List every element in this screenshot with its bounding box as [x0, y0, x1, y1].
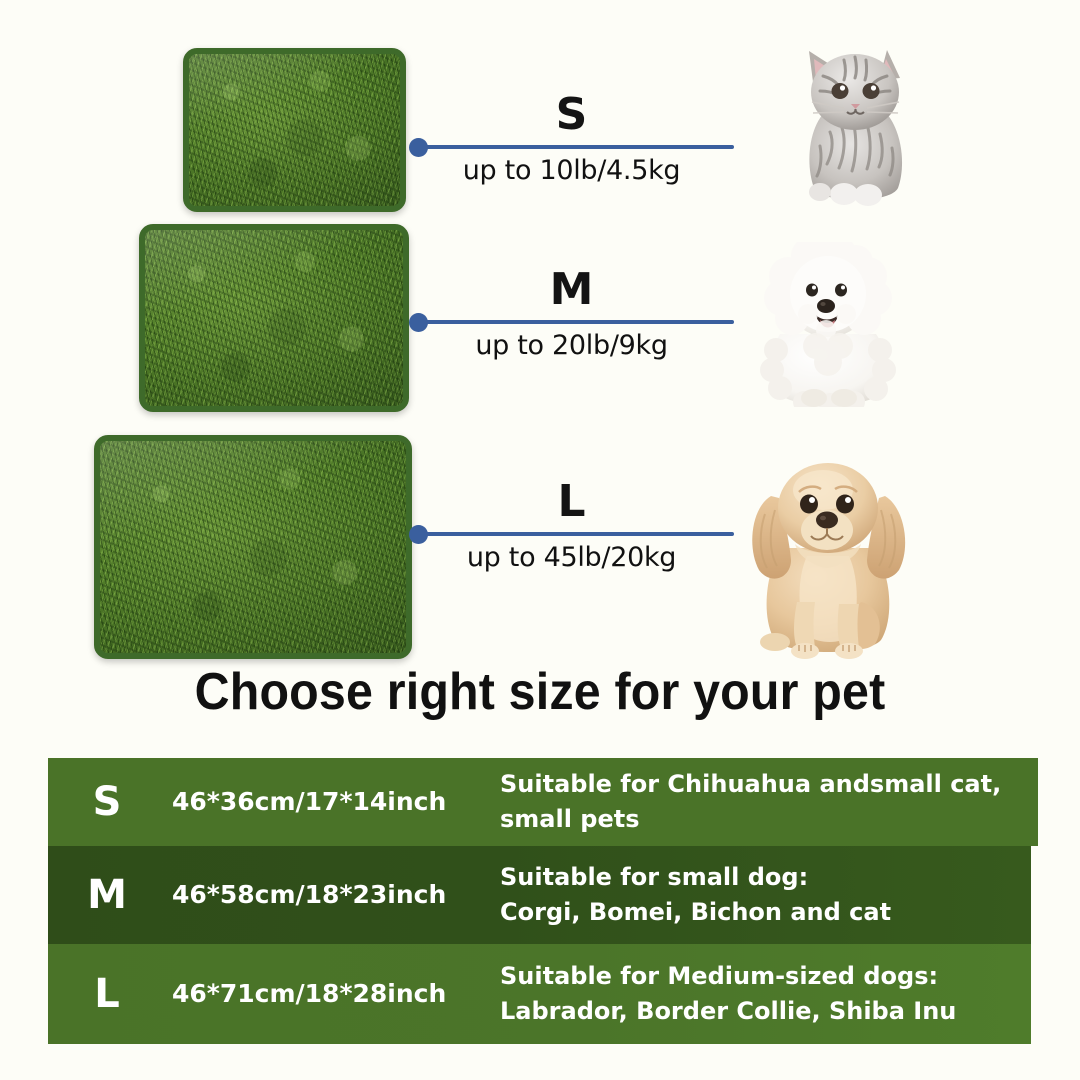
table-row-l: L 46*71cm/18*28inch Suitable for Medium-… — [48, 944, 1031, 1044]
size-weight-m: up to 20lb/9kg — [409, 332, 734, 359]
bichon-dog-image — [752, 242, 912, 407]
grass-pad-image-large — [94, 435, 412, 659]
size-weight-l: up to 45lb/20kg — [409, 544, 734, 571]
row-description-line: Labrador, Border Collie, Shiba Inu — [500, 994, 1031, 1029]
size-chart-table: S 46*36cm/17*14inch Suitable for Chihuah… — [48, 758, 1038, 1044]
size-letter-l: L — [409, 480, 734, 524]
turf-sheen — [100, 441, 406, 653]
table-row-s: S 46*36cm/17*14inch Suitable for Chihuah… — [48, 758, 1038, 846]
callout-rule-m — [425, 320, 734, 324]
row-dimensions-l: 46*71cm/18*28inch — [166, 980, 492, 1008]
infographic-page: S up to 10lb/4.5kg M up to 20lb/9kg L up… — [0, 0, 1080, 1080]
row-size-label-s: S — [48, 782, 166, 822]
grass-pad-image-small — [183, 48, 406, 212]
row-description-line: Corgi, Bomei, Bichon and cat — [500, 895, 1031, 930]
size-weight-s: up to 10lb/4.5kg — [409, 157, 734, 184]
size-letter-s: S — [409, 93, 734, 137]
grass-pad-image-medium — [139, 224, 409, 412]
turf-sheen — [145, 230, 403, 406]
row-description-l: Suitable for Medium-sized dogs: Labrador… — [492, 959, 1031, 1029]
row-description-s: Suitable for Chihuahua andsmall cat, sma… — [492, 767, 1038, 837]
white-bichon-frise-icon — [752, 242, 912, 407]
callout-dot-m — [409, 313, 428, 332]
size-letter-m: M — [409, 268, 734, 312]
row-dimensions-s: 46*36cm/17*14inch — [166, 788, 492, 816]
callout-rule-l — [425, 532, 734, 536]
grey-tabby-kitten-icon — [782, 36, 942, 211]
row-description-m: Suitable for small dog: Corgi, Bomei, Bi… — [492, 860, 1031, 930]
row-dimensions-m: 46*58cm/18*23inch — [166, 881, 492, 909]
row-description-line: Suitable for Chihuahua andsmall cat, sma… — [500, 767, 1038, 837]
callout-dot-s — [409, 138, 428, 157]
golden-cocker-spaniel-icon — [735, 452, 925, 664]
row-size-label-m: M — [48, 875, 166, 915]
table-row-m: M 46*58cm/18*23inch Suitable for small d… — [48, 846, 1031, 944]
spaniel-dog-image — [735, 452, 925, 664]
row-size-label-l: L — [48, 974, 166, 1014]
turf-sheen — [189, 54, 400, 206]
callout-dot-l — [409, 525, 428, 544]
row-description-line: Suitable for small dog: — [500, 860, 1031, 895]
callout-rule-s — [425, 145, 734, 149]
row-description-line: Suitable for Medium-sized dogs: — [500, 959, 1031, 994]
page-title: Choose right size for your pet — [38, 662, 1042, 722]
kitten-image — [782, 36, 942, 211]
